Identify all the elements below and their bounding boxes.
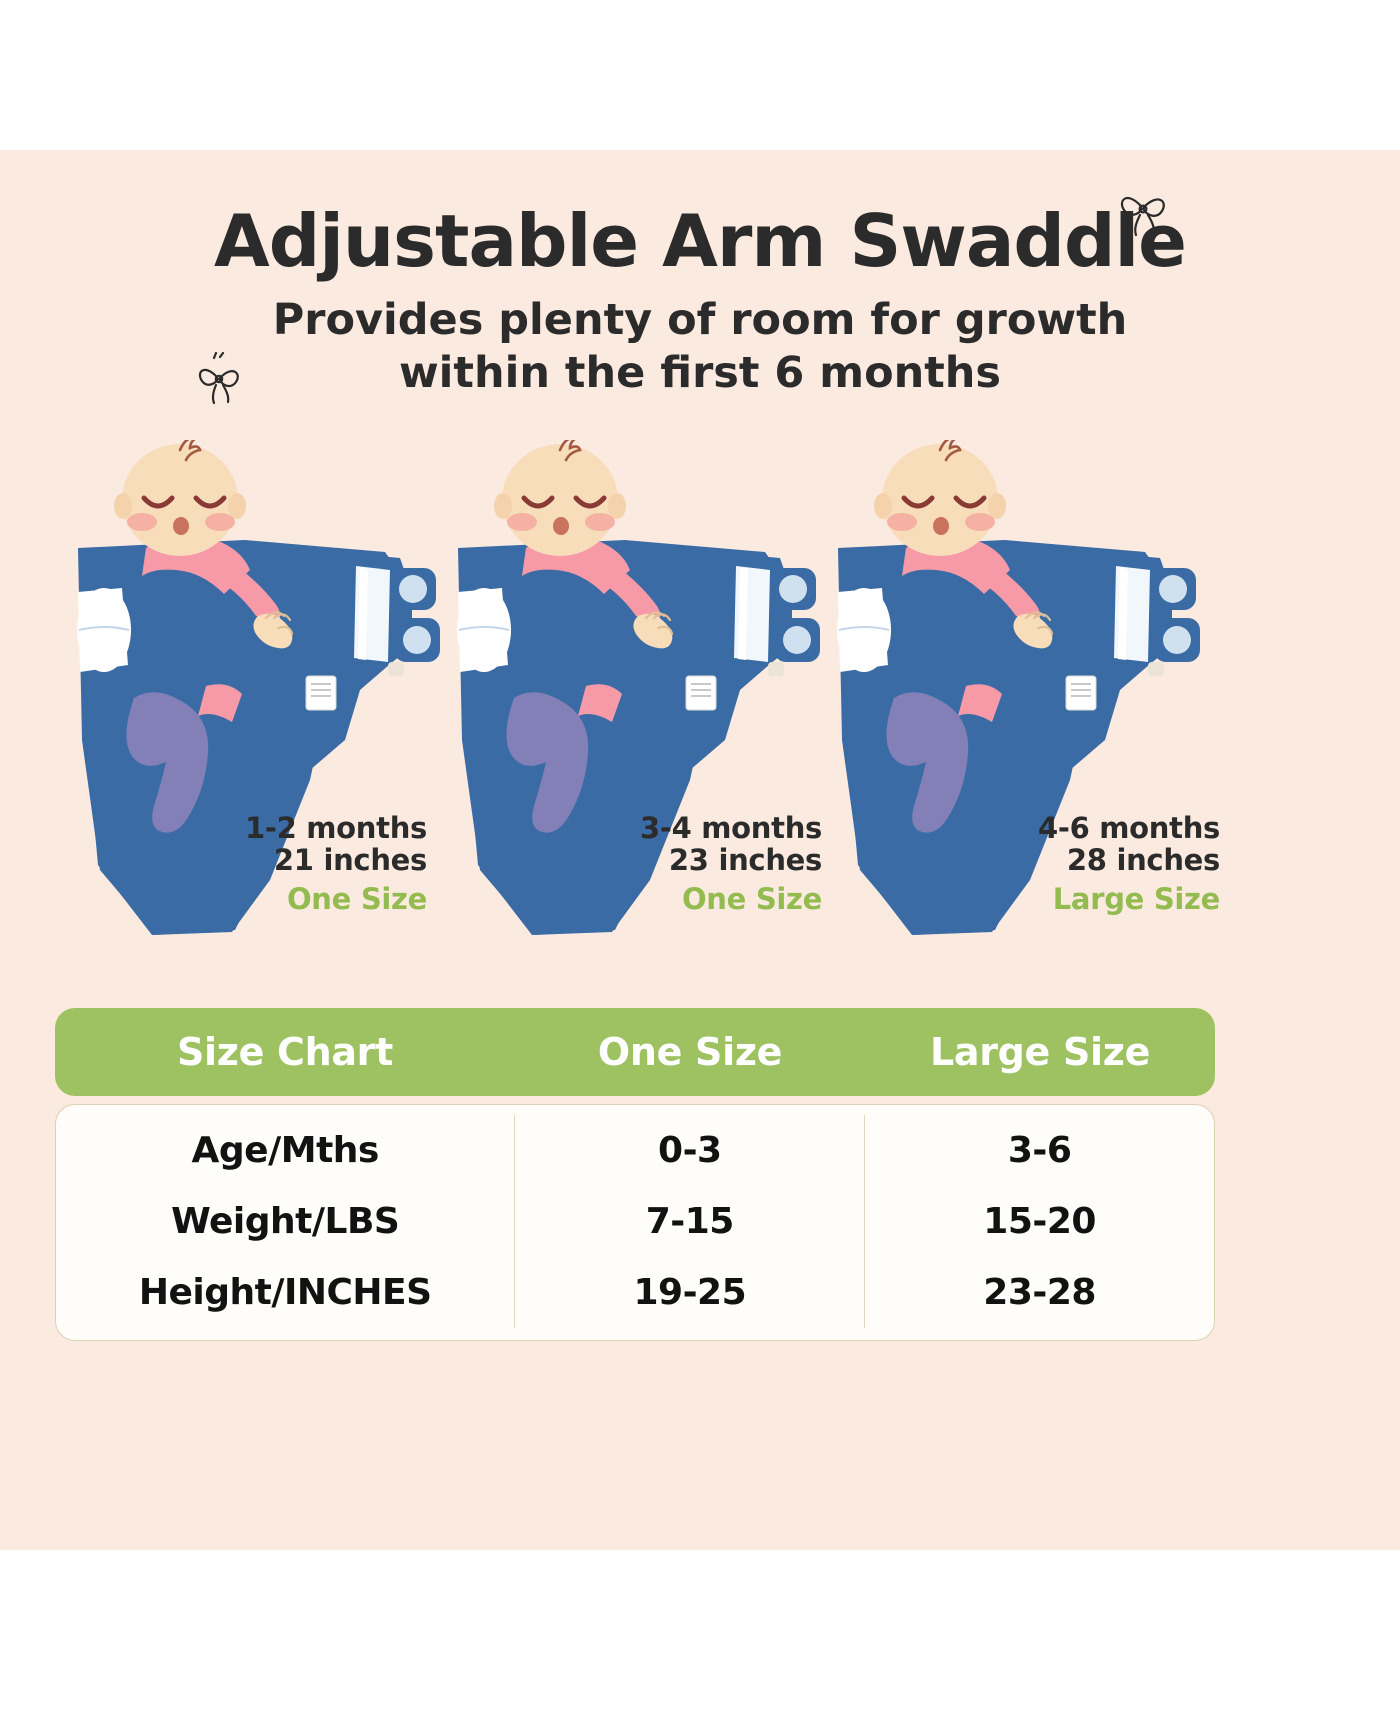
row-age-large-size: 3-6 [864, 1115, 1214, 1186]
infographic-page: Adjustable Arm Swaddle Provides plenty o… [0, 0, 1400, 1710]
size-chart-header-one-size: One Size [515, 1030, 865, 1074]
header-block: Adjustable Arm Swaddle Provides plenty o… [0, 205, 1400, 399]
figure-3-length: 28 inches [928, 844, 1220, 876]
page-title: Adjustable Arm Swaddle [0, 205, 1400, 278]
row-height-one-size: 19-25 [514, 1257, 864, 1328]
page-subtitle: Provides plenty of room for growth withi… [0, 294, 1400, 399]
row-height-large-size: 23-28 [864, 1257, 1214, 1328]
size-chart-body: Age/Mths 0-3 3-6 Weight/LBS 7-15 15-20 H… [55, 1104, 1215, 1341]
row-weight-large-size: 15-20 [864, 1186, 1214, 1257]
row-label-height: Height/INCHES [56, 1272, 514, 1313]
row-label-age: Age/Mths [56, 1130, 514, 1171]
figure-1-size-label: One Size [135, 883, 427, 915]
size-chart-header-large-size: Large Size [865, 1030, 1215, 1074]
figure-1-length: 21 inches [135, 844, 427, 876]
figure-3-age: 4-6 months [928, 812, 1220, 844]
figure-caption-2: 3-4 months 23 inches One Size [530, 812, 822, 915]
subtitle-line-2: within the first 6 months [0, 347, 1400, 399]
size-chart-header-label: Size Chart [55, 1030, 515, 1074]
figure-caption-1: 1-2 months 21 inches One Size [135, 812, 427, 915]
size-chart-header-row: Size Chart One Size Large Size [55, 1008, 1215, 1096]
row-age-one-size: 0-3 [514, 1115, 864, 1186]
subtitle-line-1: Provides plenty of room for growth [0, 294, 1400, 346]
table-row: Height/INCHES 19-25 23-28 [56, 1257, 1214, 1328]
figure-2-age: 3-4 months [530, 812, 822, 844]
row-label-weight: Weight/LBS [56, 1201, 514, 1242]
size-chart: Size Chart One Size Large Size Age/Mths … [55, 1008, 1215, 1341]
table-row: Age/Mths 0-3 3-6 [56, 1115, 1214, 1186]
figure-caption-3: 4-6 months 28 inches Large Size [928, 812, 1220, 915]
figure-1-age: 1-2 months [135, 812, 427, 844]
figure-3-size-label: Large Size [928, 883, 1220, 915]
table-row: Weight/LBS 7-15 15-20 [56, 1186, 1214, 1257]
row-weight-one-size: 7-15 [514, 1186, 864, 1257]
figure-2-size-label: One Size [530, 883, 822, 915]
figure-2-length: 23 inches [530, 844, 822, 876]
